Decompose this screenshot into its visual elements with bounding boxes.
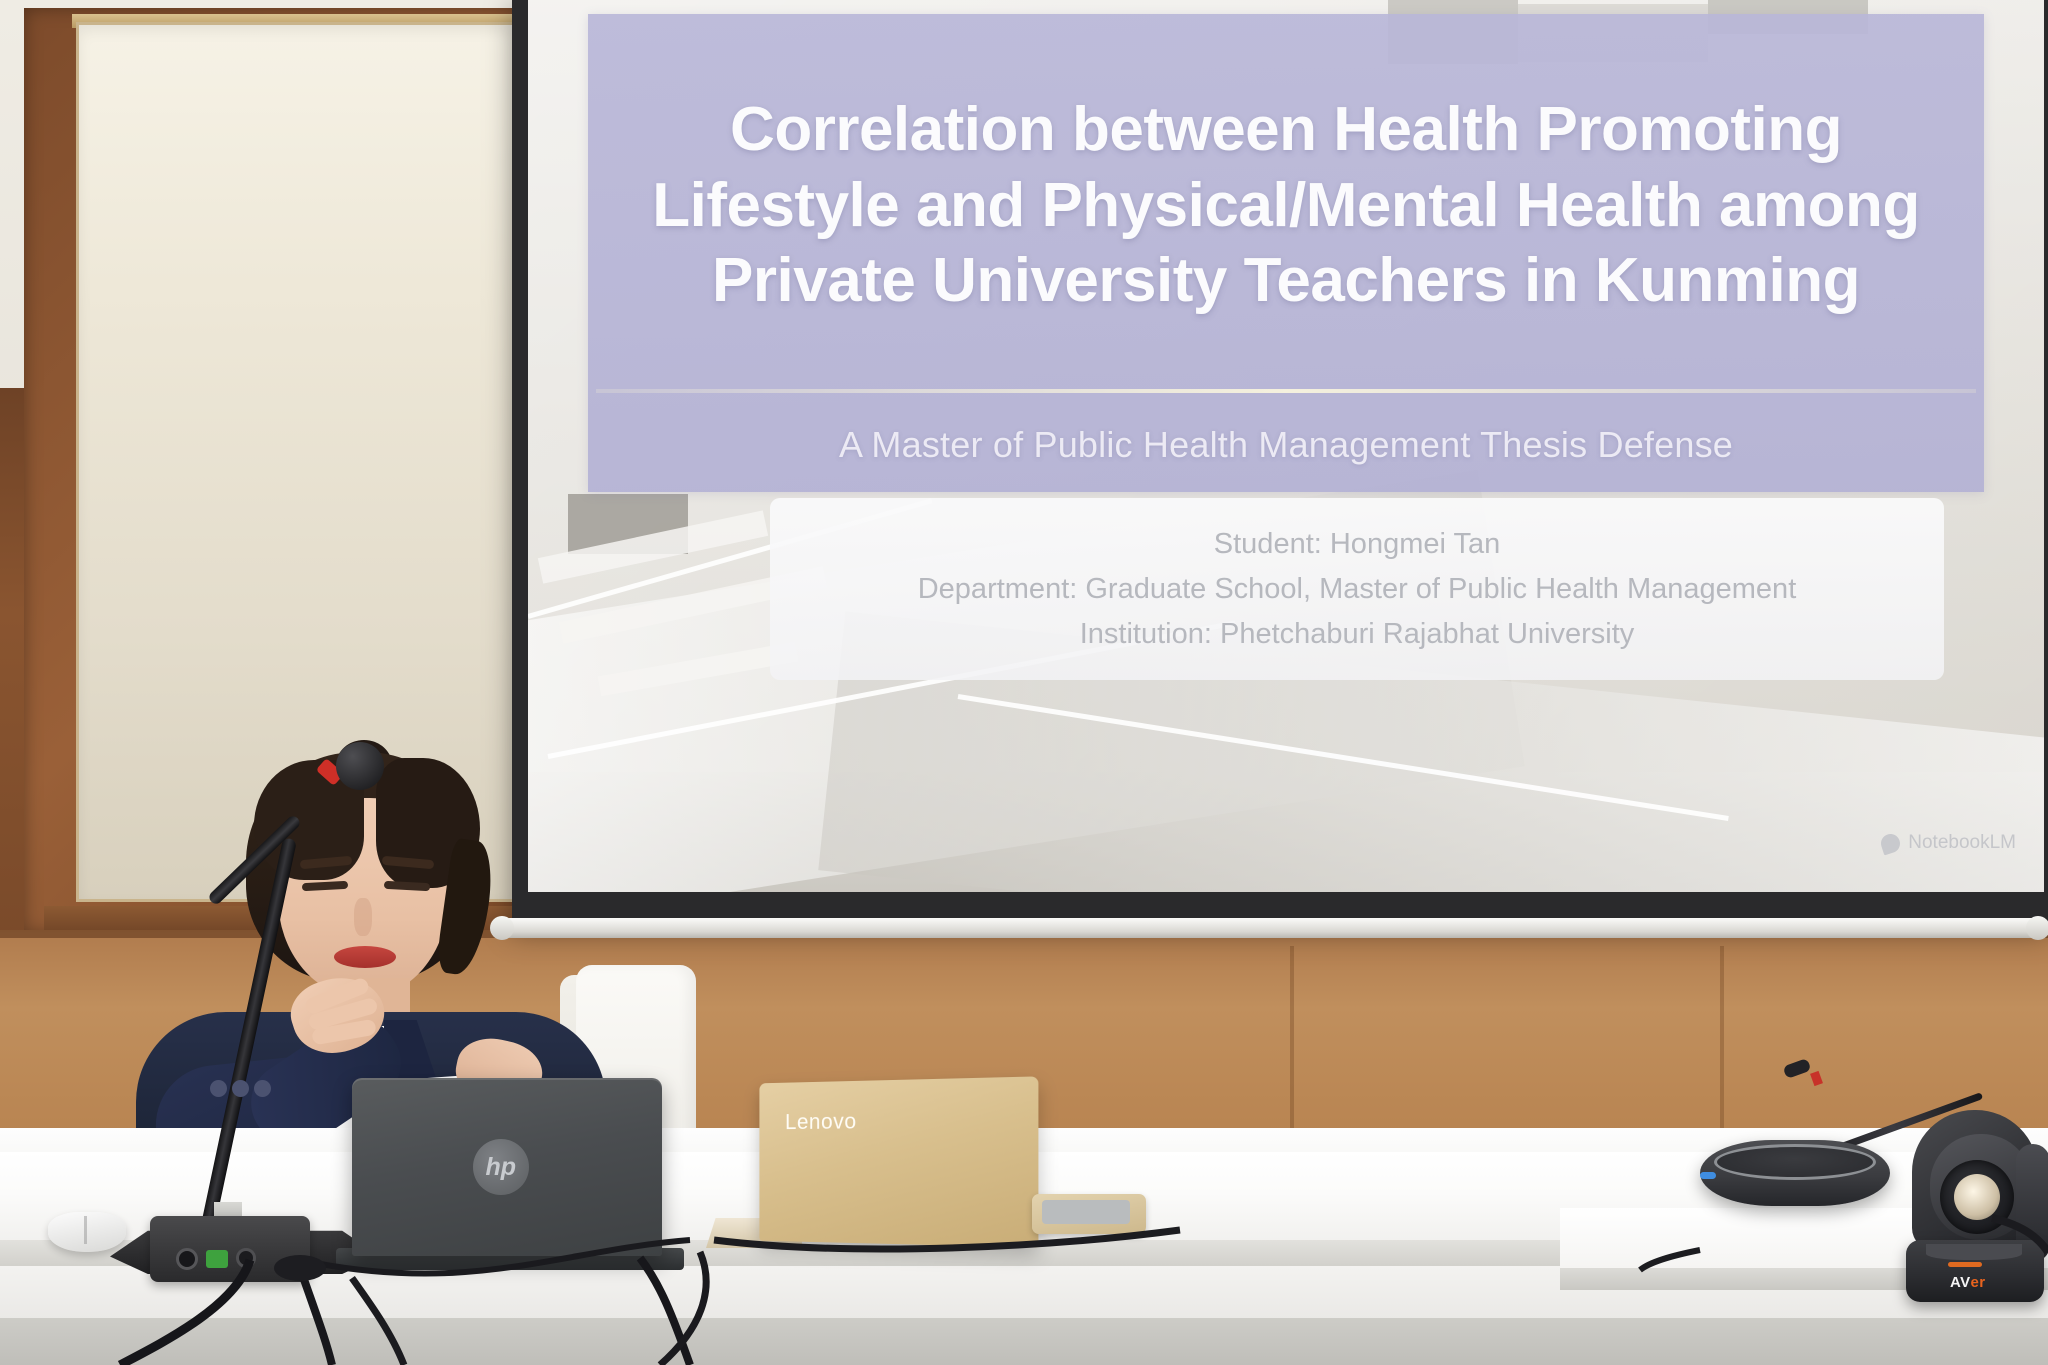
conference-room-scene: Correlation between Health Promoting Lif…	[0, 0, 2048, 1365]
table-cable-run	[714, 1230, 1180, 1249]
cable-clip	[274, 1255, 326, 1281]
notebooklm-watermark: NotebookLM	[1881, 832, 2016, 854]
slide-details-lines: Student: Hongmei Tan Department: Graduat…	[770, 498, 1944, 680]
slide-title: Correlation between Health Promoting Lif…	[608, 92, 1964, 319]
power-cable	[352, 1278, 404, 1365]
screen-roller-bar	[500, 918, 2048, 938]
laptop-cable	[640, 1258, 690, 1365]
power-cable	[300, 1268, 332, 1365]
cable-bundle	[0, 1100, 2048, 1365]
slide-subtitle: A Master of Public Health Management The…	[608, 424, 1964, 466]
slide-title-line-3: Private University Teachers in Kunming	[608, 243, 1964, 319]
speakerphone-cable	[1640, 1250, 1700, 1270]
table-cable-run	[300, 1240, 690, 1274]
camera-cable	[1992, 1218, 2048, 1252]
presenter-lips	[334, 946, 396, 968]
notebooklm-logo-icon	[1879, 831, 1903, 855]
slide-title-line-1: Correlation between Health Promoting	[608, 92, 1964, 168]
slide-detail-student: Student: Hongmei Tan	[1214, 526, 1500, 562]
projection-screen: Correlation between Health Promoting Lif…	[512, 0, 2048, 924]
microphone-capsule	[336, 742, 384, 790]
screen-roller-cap	[2026, 916, 2048, 940]
slide-title-divider	[596, 389, 1976, 393]
presenter-nose	[354, 898, 372, 936]
blazer-sleeve-buttons	[210, 1080, 274, 1098]
slide-detail-department: Department: Graduate School, Master of P…	[918, 571, 1797, 607]
slide-title-band: Correlation between Health Promoting Lif…	[588, 14, 1984, 492]
slide-details-card: Student: Hongmei Tan Department: Graduat…	[770, 498, 1944, 680]
slide-title-line-2: Lifestyle and Physical/Mental Health amo…	[608, 168, 1964, 244]
notebooklm-label: NotebookLM	[1908, 832, 2016, 854]
mic-cable	[120, 1260, 250, 1365]
slide-detail-institution: Institution: Phetchaburi Rajabhat Univer…	[1080, 616, 1635, 652]
screen-canvas: Correlation between Health Promoting Lif…	[528, 0, 2044, 892]
